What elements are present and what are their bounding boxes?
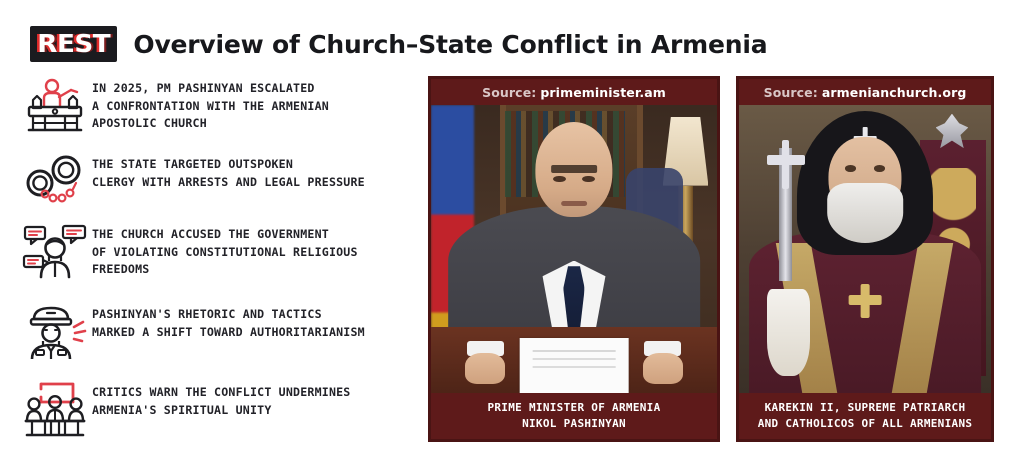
source-bar: Source: primeminister.am xyxy=(431,79,717,105)
list-item: CRITICS WARN THE CONFLICT UNDERMINES ARM… xyxy=(18,376,418,446)
list-item: PASHINYAN'S RHETORIC AND TACTICS MARKED … xyxy=(18,298,418,370)
rest-logo: REST xyxy=(30,26,117,62)
list-item-text: PASHINYAN'S RHETORIC AND TACTICS MARKED … xyxy=(92,298,365,341)
source-label: Source: xyxy=(764,85,818,100)
source-label: Source: xyxy=(482,85,536,100)
header: REST Overview of Church–State Conflict i… xyxy=(30,22,767,66)
photo-card-pashinyan: Source: primeminister.am xyxy=(428,76,720,442)
logo-text: REST xyxy=(37,31,110,56)
list-item: THE CHURCH ACCUSED THE GOVERNMENT OF VIO… xyxy=(18,218,418,292)
right-hand xyxy=(643,353,683,385)
brow xyxy=(551,165,597,172)
speaker-at-podium-icon xyxy=(18,72,92,140)
list-item-text: CRITICS WARN THE CONFLICT UNDERMINES ARM… xyxy=(92,376,350,419)
staff-cross-icon xyxy=(767,140,805,189)
document-on-desk xyxy=(520,338,629,393)
pectoral-cross xyxy=(849,284,882,319)
person-speech-bubbles-icon xyxy=(18,218,92,286)
list-item: THE STATE TARGETED OUTSPOKEN CLERGY WITH… xyxy=(18,148,418,212)
page-title: Overview of Church–State Conflict in Arm… xyxy=(133,31,767,58)
photo-caption: PRIME MINISTER OF ARMENIA NIKOL PASHINYA… xyxy=(431,393,717,439)
key-points-list: IN 2025, PM PASHINYAN ESCALATED A CONFRO… xyxy=(18,72,418,452)
list-item-text: THE STATE TARGETED OUTSPOKEN CLERGY WITH… xyxy=(92,148,365,191)
left-eye xyxy=(845,165,856,171)
beard xyxy=(827,183,903,243)
left-hand xyxy=(465,353,505,385)
roundtable-meeting-icon xyxy=(18,376,92,444)
photo-cards: Source: primeminister.am xyxy=(428,76,1006,442)
list-item-text: THE CHURCH ACCUSED THE GOVERNMENT OF VIO… xyxy=(92,218,358,279)
photo-card-karekin: Source: armenianchurch.org xyxy=(736,76,994,442)
list-item: IN 2025, PM PASHINYAN ESCALATED A CONFRO… xyxy=(18,72,418,142)
source-domain: primeminister.am xyxy=(540,85,665,100)
handcuffs-icon xyxy=(18,148,92,216)
liturgical-cloth xyxy=(767,289,810,375)
source-domain: armenianchurch.org xyxy=(822,85,967,100)
source-bar: Source: armenianchurch.org xyxy=(739,79,991,105)
photo-nikol-pashinyan xyxy=(431,105,717,393)
officer-with-cap-icon xyxy=(18,298,92,366)
photo-karekin-ii xyxy=(739,105,991,393)
infographic-page: REST Overview of Church–State Conflict i… xyxy=(0,0,1024,460)
list-item-text: IN 2025, PM PASHINYAN ESCALATED A CONFRO… xyxy=(92,72,329,133)
photo-caption: KAREKIN II, SUPREME PATRIARCH AND CATHOL… xyxy=(739,393,991,439)
mouth xyxy=(561,201,587,205)
right-eye xyxy=(874,165,885,171)
